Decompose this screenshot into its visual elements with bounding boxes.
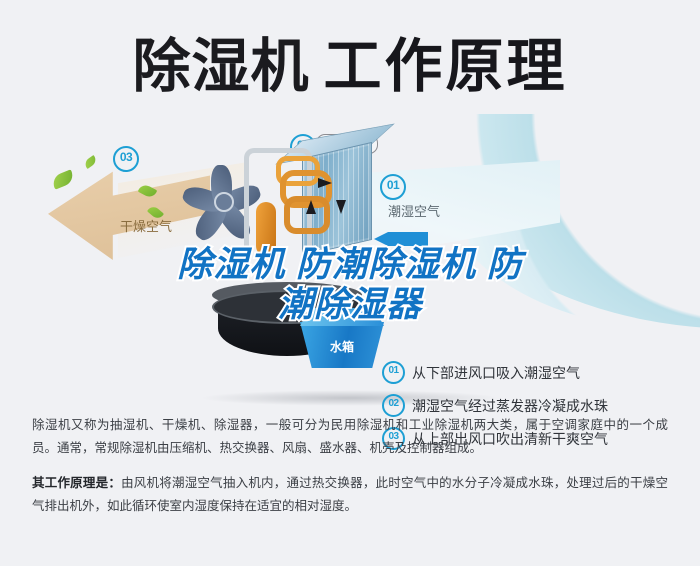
compressor-assembly (236, 148, 322, 268)
step-text: 潮湿空气经过蒸发器冷凝成水珠 (412, 396, 608, 416)
body-paragraph-2-lead: 其工作原理是： (32, 476, 121, 490)
water-tank-label: 水箱 (300, 338, 384, 355)
water-tank: 水箱 (300, 308, 384, 370)
dry-air-arrow (48, 164, 210, 260)
flow-arrow-right-icon (318, 178, 332, 188)
body-paragraph-2-text: 由风机将潮湿空气抽入机内，通过热交换器，此时空气中的水分子冷凝成水珠，处理过后的… (32, 476, 668, 513)
background-swoosh-outer (410, 114, 700, 329)
flow-arrow-down-icon (336, 200, 346, 214)
water-tank-top (300, 308, 384, 326)
body-paragraph-1: 除湿机又称为抽湿机、干燥机、除湿器，一般可分为民用除湿机和工业除湿机两大类，属于… (32, 414, 668, 460)
dehumidifier-illustration: 水箱 (190, 144, 400, 394)
leaf-icon (50, 169, 75, 189)
step-text: 从下部进风口吸入潮湿空气 (412, 363, 580, 383)
page-title-part2: 工作原理 (324, 38, 568, 96)
step-number: 01 (382, 361, 405, 384)
leaf-icon (138, 183, 158, 200)
diagram-badge-03: 03 (113, 146, 139, 172)
working-principle-diagram: 03 02 01 热交换器 干燥空气 潮湿空气 (0, 118, 700, 403)
page-title: 除湿机 工作原理 (0, 22, 700, 112)
page-title-part1: 除湿机 (132, 38, 309, 96)
flow-arrow-up-icon (306, 200, 316, 214)
article-body: 除湿机又称为抽湿机、干燥机、除湿器，一般可分为民用除湿机和工业除湿机两大类，属于… (32, 414, 668, 530)
background-swoosh-inner (440, 182, 690, 332)
step-item-01: 01 从下部进风口吸入潮湿空气 (382, 356, 682, 389)
air-intake-arrow-icon (374, 232, 428, 246)
dry-air-label: 干燥空气 (120, 216, 172, 235)
body-paragraph-2: 其工作原理是：由风机将潮湿空气抽入机内，通过热交换器，此时空气中的水分子冷凝成水… (32, 472, 668, 518)
leaf-icon (83, 155, 98, 169)
compressor-cylinder (256, 202, 276, 256)
